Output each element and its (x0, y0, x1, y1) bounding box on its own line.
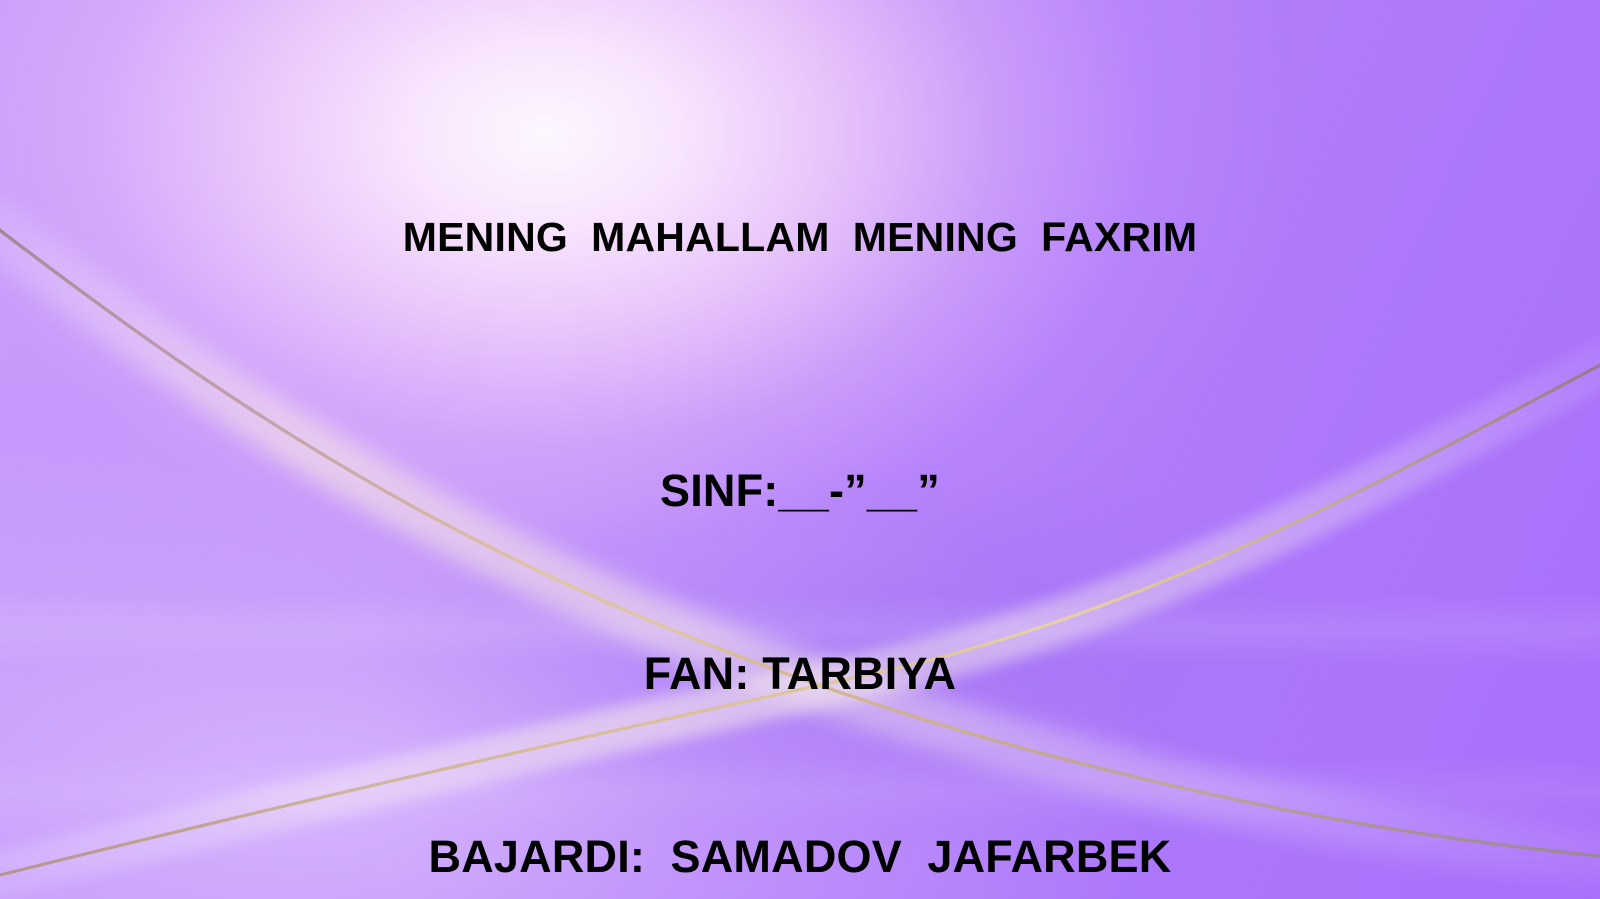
slide-text-container: MENING MAHALLAM MENING FAXRIM SINF:__-”_… (0, 0, 1600, 126)
slide-title: MENING MAHALLAM MENING FAXRIM (0, 216, 1600, 259)
slide-line-author-1: BAJARDI: SAMADOV JAFARBEK (0, 826, 1600, 887)
presentation-slide: MENING MAHALLAM MENING FAXRIM SINF:__-”_… (0, 0, 1600, 899)
slide-subtitle-block: SINF:__-”__” FAN: TARBIYA BAJARDI: SAMAD… (0, 338, 1600, 899)
slide-line-subject: FAN: TARBIYA (0, 643, 1600, 704)
slide-line-class: SINF:__-”__” (0, 460, 1600, 521)
